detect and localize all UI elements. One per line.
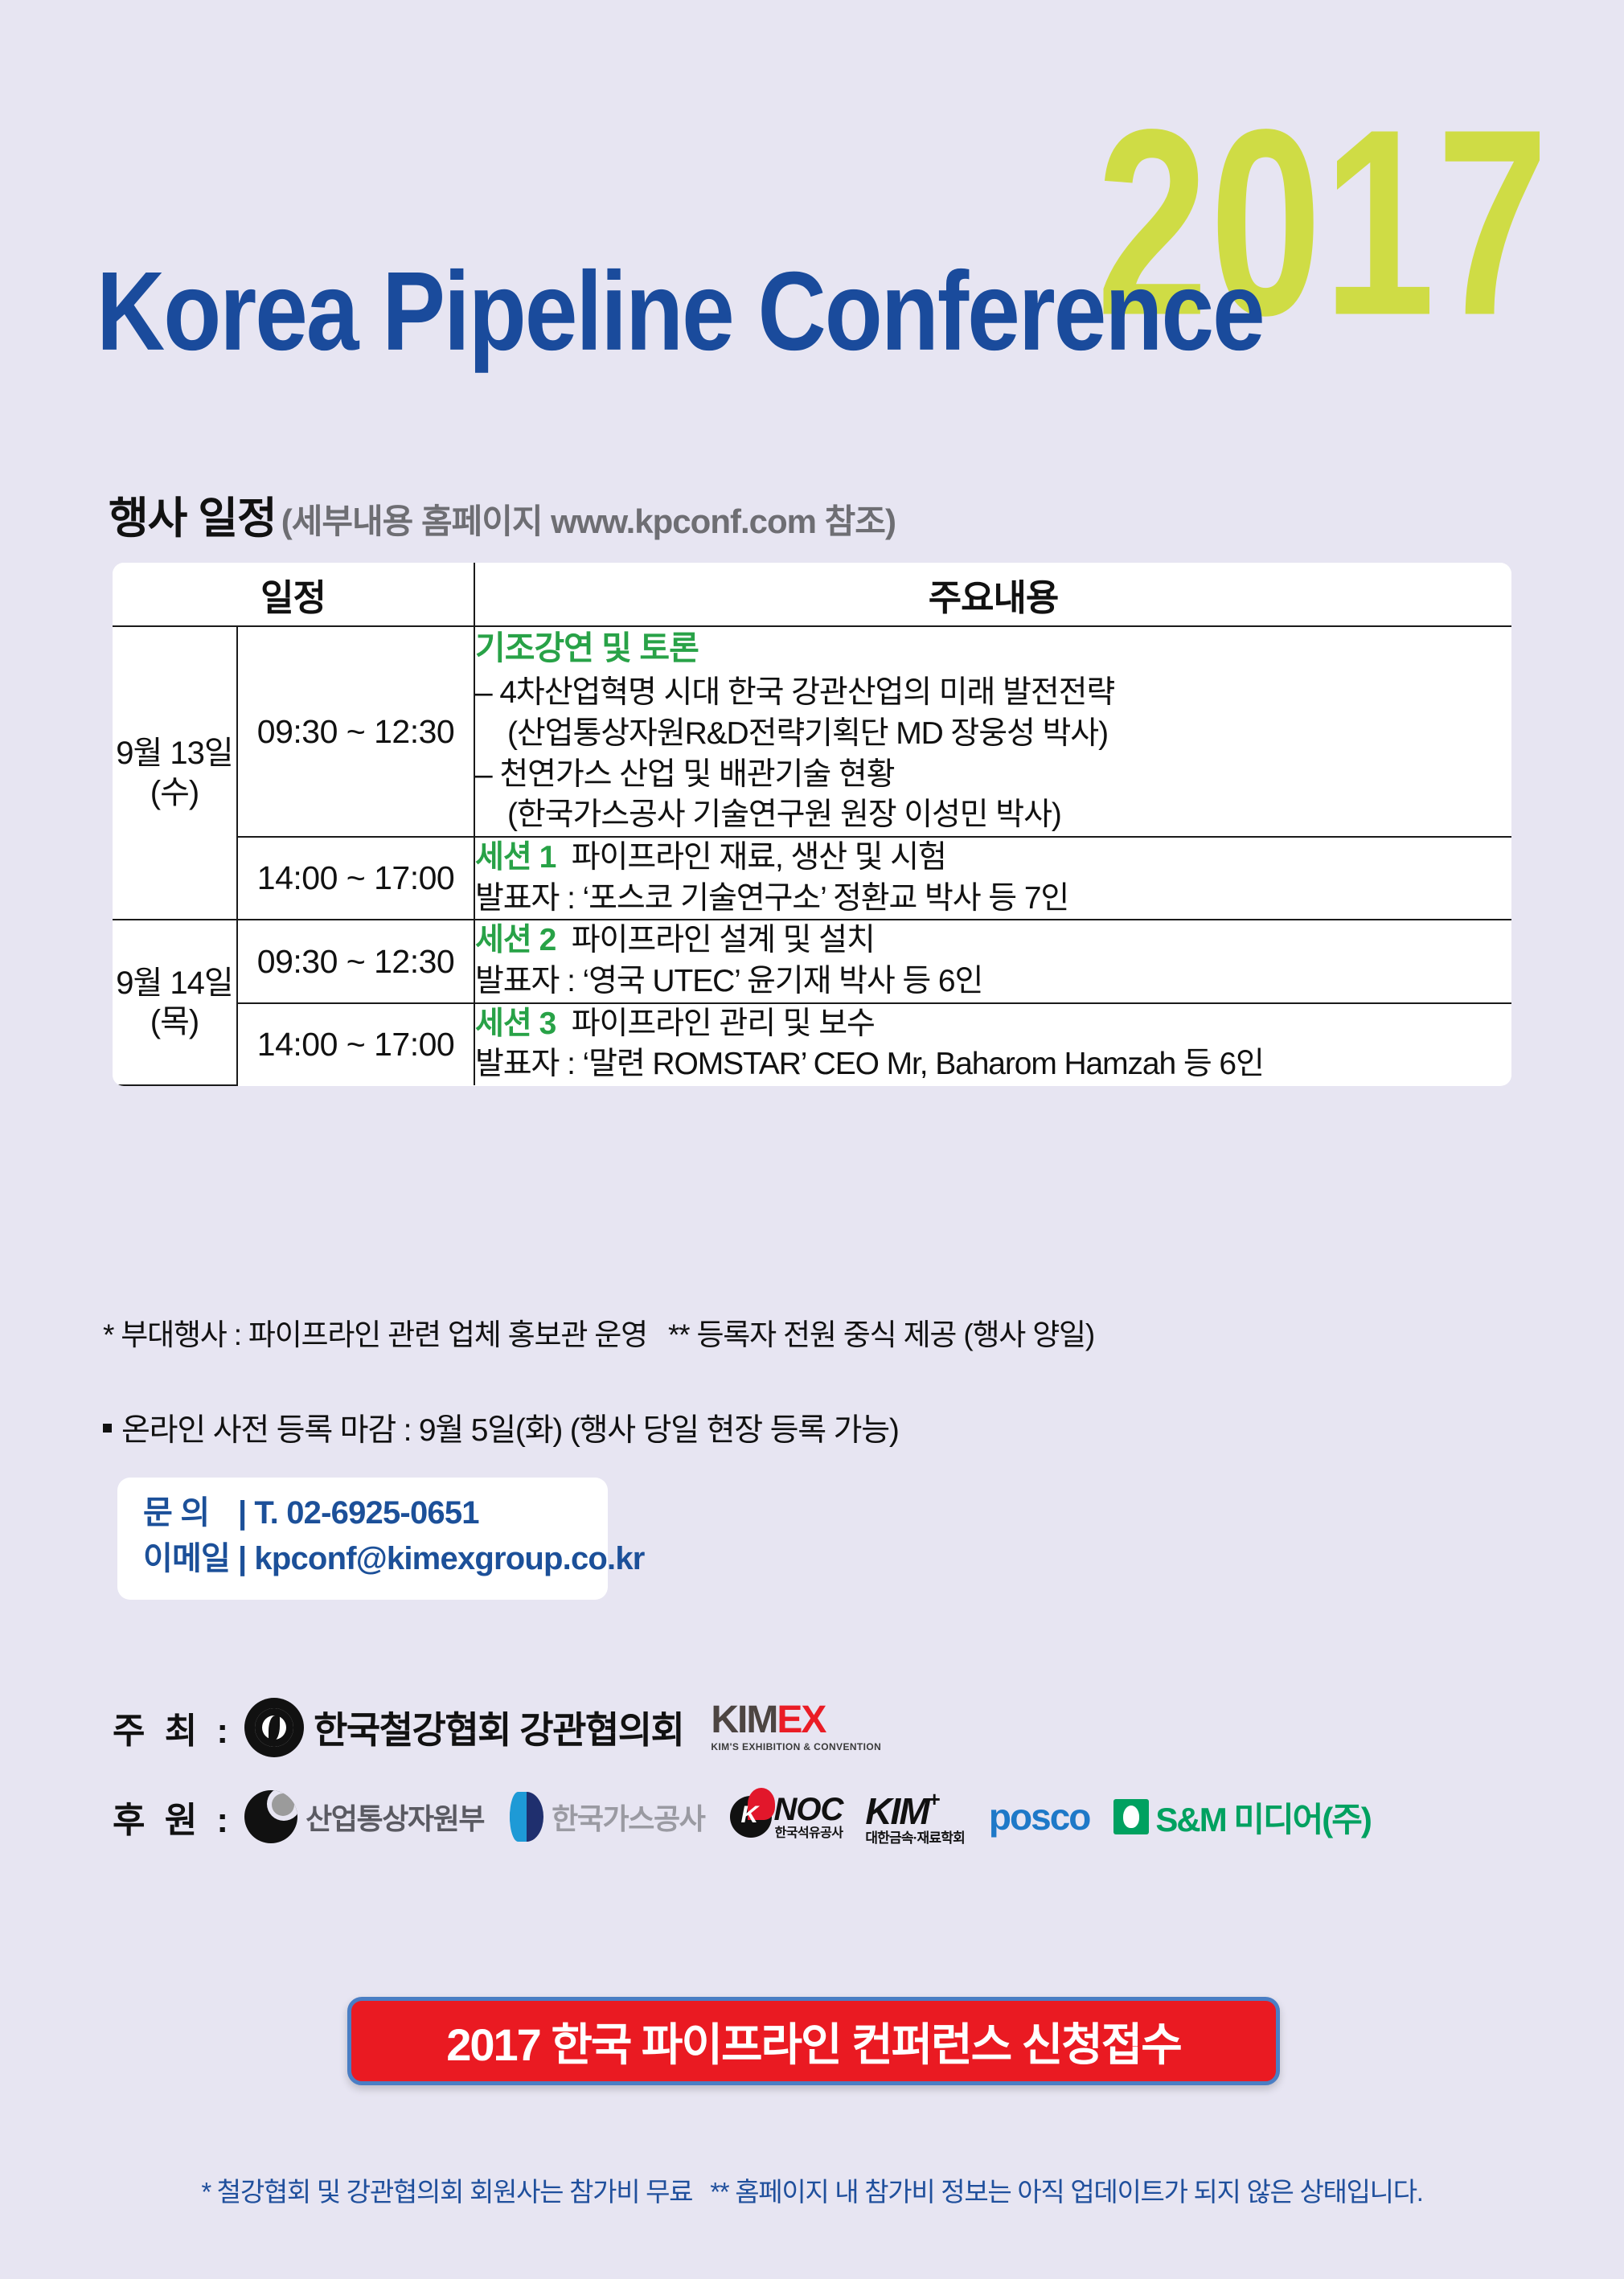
contact-separator: | (238, 1541, 246, 1576)
weekday-text: (수) (113, 773, 236, 813)
knoc-letter: K (740, 1801, 758, 1829)
register-button-label: 2017 한국 파이프라인 컨퍼런스 신청접수 (446, 2009, 1181, 2074)
weekday-text: (목) (113, 1002, 236, 1042)
sm-media-logo: S&M 미디어(주) (1113, 1793, 1371, 1842)
note-registration: 온라인 사전 등록 마감 : 9월 5일(화) (행사 당일 현장 등록 가능) (103, 1405, 899, 1450)
posco-icon: posco (989, 1795, 1089, 1838)
keynote-line-3: – 천연가스 산업 및 배관기술 현황 (475, 755, 1511, 796)
date-cell-day2: 9월 14일 (목) (113, 920, 237, 1085)
kim-sub-name: 대한금속·재료학회 (865, 1831, 965, 1845)
date-text: 9월 14일 (113, 964, 236, 1003)
title-block: 2017 Korea Pipeline Conference (0, 0, 1624, 418)
session-speaker: 발표자 : ‘말련 ROMSTAR’ CEO Mr, Baharom Hamza… (475, 1044, 1511, 1085)
note-lunch-text: ** 등록자 전원 중식 제공 (행사 양일) (668, 1318, 1094, 1351)
sm-media-icon (1113, 1799, 1149, 1834)
session-line: 세션 2 파이프라인 설계 및 설치 (475, 920, 1511, 961)
session-label: 세션 2 (475, 923, 556, 957)
organizer-row: 주 최 : 한국철강협회 강관협의회 KIMEX KIM'S EXHIBITIO… (113, 1698, 881, 1757)
kimex-logo: KIMEX KIM'S EXHIBITION & CONVENTION (711, 1701, 881, 1752)
content-cell: 세션 3 파이프라인 관리 및 보수 발표자 : ‘말련 ROMSTAR’ CE… (474, 1003, 1511, 1085)
schedule-heading-sub: (세부내용 홈페이지 www.kpconf.com 참조) (281, 502, 896, 540)
motie-taegeuk-icon (244, 1790, 297, 1843)
schedule-table: 일정 주요내용 9월 13일 (수) 09:30 ~ 12:30 기조강연 및 … (113, 563, 1511, 1086)
organizer-name: 한국철강협회 강관협의회 (314, 1701, 683, 1754)
keynote-line-2: (산업통상자원R&D전략기획단 MD 장웅성 박사) (475, 714, 1511, 755)
footer-note-2: ** 홈페이지 내 참가비 정보는 아직 업데이트가 되지 않은 상태입니다. (710, 2177, 1422, 2207)
session-speaker: 발표자 : ‘영국 UTEC’ 윤기재 박사 등 6인 (475, 961, 1511, 1002)
table-row: 9월 14일 (목) 09:30 ~ 12:30 세션 2 파이프라인 설계 및… (113, 920, 1511, 1002)
table-row: 14:00 ~ 17:00 세션 1 파이프라인 재료, 생산 및 시험 발표자… (113, 837, 1511, 920)
contact-separator: | (238, 1495, 246, 1531)
sponsor-name-kim: KIM+ (865, 1789, 965, 1830)
session-label: 세션 3 (475, 1006, 556, 1041)
kimex-wordmark: KIMEX (711, 1699, 825, 1741)
register-button[interactable]: 2017 한국 파이프라인 컨퍼런스 신청접수 (347, 1997, 1280, 2085)
contact-email-line: 이메일|kpconf@kimexgroup.co.kr (143, 1536, 608, 1582)
kimex-tagline: KIM'S EXHIBITION & CONVENTION (711, 1742, 881, 1752)
date-cell-day1: 9월 13일 (수) (113, 626, 237, 920)
table-row: 9월 13일 (수) 09:30 ~ 12:30 기조강연 및 토론 – 4차산… (113, 626, 1511, 837)
kosa-seal-icon (244, 1698, 304, 1757)
session-label: 세션 1 (475, 840, 556, 875)
content-cell: 세션 2 파이프라인 설계 및 설치 발표자 : ‘영국 UTEC’ 윤기재 박… (474, 920, 1511, 1002)
conference-poster: 2017 Korea Pipeline Conference 행사 일정(세부내… (0, 0, 1624, 2279)
column-header-date: 일정 (113, 563, 474, 626)
keynote-line-4: (한국가스공사 기술연구원 원장 이성민 박사) (475, 795, 1511, 836)
footer-note-1: * 철강협회 및 강관협의회 회원사는 참가비 무료 (201, 2177, 692, 2207)
sponsor-label: 후 원 : (113, 1791, 233, 1842)
kim-plus-icon: + (929, 1787, 939, 1811)
sponsor-name-knoc: NOC (773, 1793, 843, 1826)
schedule-heading-main: 행사 일정 (109, 494, 277, 543)
knoc-sub-name: 한국석유공사 (773, 1827, 843, 1840)
kimex-part1: KIM (711, 1699, 777, 1741)
footer-notes: * 철강협회 및 강관협의회 회원사는 참가비 무료** 홈페이지 내 참가비 … (0, 2170, 1624, 2209)
kim-plus-logo: KIM+ 대한금속·재료학회 (865, 1789, 965, 1845)
contact-phone-label: 문 의 (143, 1490, 230, 1536)
session-line: 세션 1 파이프라인 재료, 생산 및 시험 (475, 838, 1511, 879)
time-cell: 09:30 ~ 12:30 (237, 626, 474, 837)
sponsor-name-kogas: 한국가스공사 (552, 1796, 704, 1838)
content-cell: 세션 1 파이프라인 재료, 생산 및 시험 발표자 : ‘포스코 기술연구소’… (474, 837, 1511, 920)
kosa-flame-icon (269, 1715, 280, 1741)
note-extra-events: * 부대행사 : 파이프라인 관련 업체 홍보관 운영** 등록자 전원 중식 … (103, 1310, 1094, 1354)
schedule-heading: 행사 일정(세부내용 홈페이지 www.kpconf.com 참조) (109, 482, 896, 546)
session-title: 파이프라인 설계 및 설치 (572, 923, 875, 957)
time-cell: 14:00 ~ 17:00 (237, 837, 474, 920)
note-extra-event-text: * 부대행사 : 파이프라인 관련 업체 홍보관 운영 (103, 1318, 647, 1351)
session-title: 파이프라인 재료, 생산 및 시험 (572, 840, 946, 875)
session-title: 파이프라인 관리 및 보수 (572, 1006, 875, 1041)
keynote-line-1: – 4차산업혁명 시대 한국 강관산업의 미래 발전전략 (475, 673, 1511, 714)
content-cell: 기조강연 및 토론 – 4차산업혁명 시대 한국 강관산업의 미래 발전전략 (… (474, 626, 1511, 837)
contact-email-label: 이메일 (143, 1536, 230, 1582)
contact-phone-line: 문 의|T. 02-6925-0651 (143, 1490, 608, 1536)
column-header-content: 주요내용 (474, 563, 1511, 626)
note-registration-text: 온라인 사전 등록 마감 : 9월 5일(화) (행사 당일 현장 등록 가능) (121, 1413, 899, 1448)
square-bullet-icon (103, 1424, 112, 1433)
contact-phone-value[interactable]: T. 02-6925-0651 (254, 1495, 478, 1531)
table-row: 14:00 ~ 17:00 세션 3 파이프라인 관리 및 보수 발표자 : ‘… (113, 1003, 1511, 1085)
kim-wordmark: KIM (865, 1790, 928, 1832)
contact-box: 문 의|T. 02-6925-0651 이메일|kpconf@kimexgrou… (117, 1478, 608, 1600)
session-line: 세션 3 파이프라인 관리 및 보수 (475, 1004, 1511, 1045)
sponsor-name-smmedia: S&M 미디어(주) (1155, 1793, 1371, 1842)
table-header-row: 일정 주요내용 (113, 563, 1511, 626)
knoc-icon: K (730, 1796, 772, 1838)
knoc-text: NOC 한국석유공사 (773, 1793, 843, 1840)
keynote-title: 기조강연 및 토론 (475, 627, 1511, 670)
date-text: 9월 13일 (113, 734, 236, 773)
kogas-leaf-icon (510, 1792, 543, 1842)
sponsor-name-motie: 산업통상자원부 (306, 1796, 484, 1838)
sponsor-row: 후 원 : 산업통상자원부 한국가스공사 K NOC 한국석유공사 KIM+ 대… (113, 1789, 1371, 1845)
organizer-label: 주 최 : (113, 1702, 233, 1753)
contact-email-value[interactable]: kpconf@kimexgroup.co.kr (254, 1541, 644, 1576)
time-cell: 09:30 ~ 12:30 (237, 920, 474, 1002)
kimex-part2: EX (777, 1699, 825, 1741)
page-title: Korea Pipeline Conference (96, 256, 1264, 367)
time-cell: 14:00 ~ 17:00 (237, 1003, 474, 1085)
knoc-logo: K NOC 한국석유공사 (730, 1793, 843, 1840)
session-speaker: 발표자 : ‘포스코 기술연구소’ 정환교 박사 등 7인 (475, 879, 1511, 920)
